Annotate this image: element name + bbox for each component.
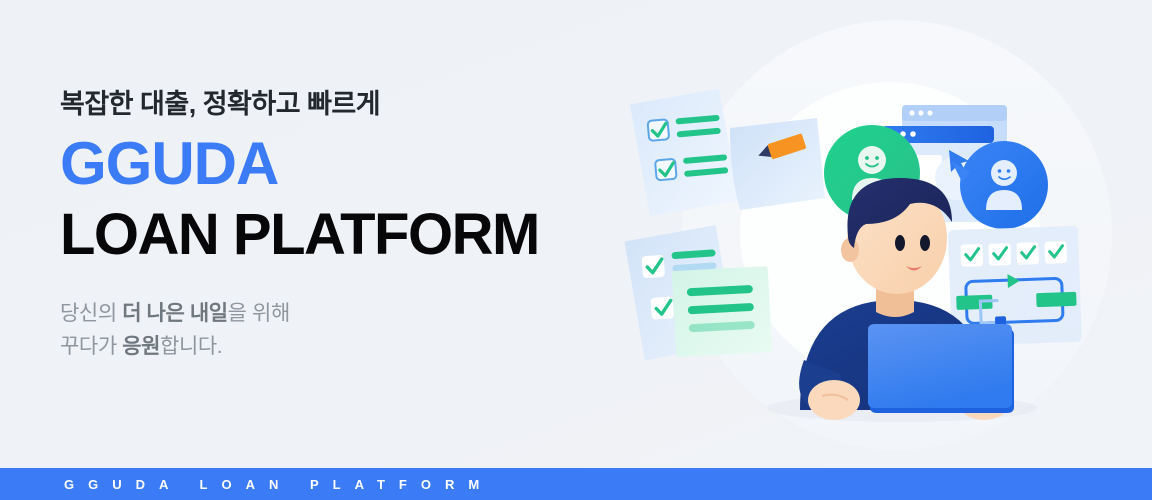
hero-product-title: LOAN PLATFORM [60,206,620,264]
person-hand-left [808,380,860,420]
checklist-card-top-left [629,88,739,217]
tagline-1-bold: 더 나은 내일 [122,302,227,325]
hero-tagline: 당신의 더 나은 내일을 위해 꾸다가 응원합니다. [60,298,620,363]
hero-copy: 복잡한 대출, 정확하고 빠르게 GGUDA LOAN PLATFORM 당신의… [60,88,620,363]
tagline-2-post: 합니다. [160,335,222,358]
tagline-1-pre: 당신의 [60,302,122,325]
tagline-2-bold: 응원 [122,335,160,358]
person-eye-left [895,235,905,251]
hero-illustration [612,0,1152,470]
pencil-note-card [730,118,825,210]
mint-note-card [672,266,772,357]
laptop [868,324,1014,413]
hero-tagline-line-1: 당신의 더 나은 내일을 위해 [60,298,620,331]
bottom-strip: GGUDA LOAN PLATFORM [0,468,1152,500]
hero-banner: 복잡한 대출, 정확하고 빠르게 GGUDA LOAN PLATFORM 당신의… [0,0,1152,500]
hero-tagline-line-2: 꾸다가 응원합니다. [60,331,620,364]
avatar-head-green [858,146,886,174]
tagline-1-post: 을 위해 [228,302,290,325]
bottom-strip-text: GGUDA LOAN PLATFORM [0,477,493,492]
person-eye-right [920,235,930,251]
hero-brand-title: GGUDA [60,134,620,194]
avatar-head-blue [991,160,1017,186]
tagline-2-pre: 꾸다가 [60,335,122,358]
hero-eyebrow: 복잡한 대출, 정확하고 빠르게 [60,88,620,120]
